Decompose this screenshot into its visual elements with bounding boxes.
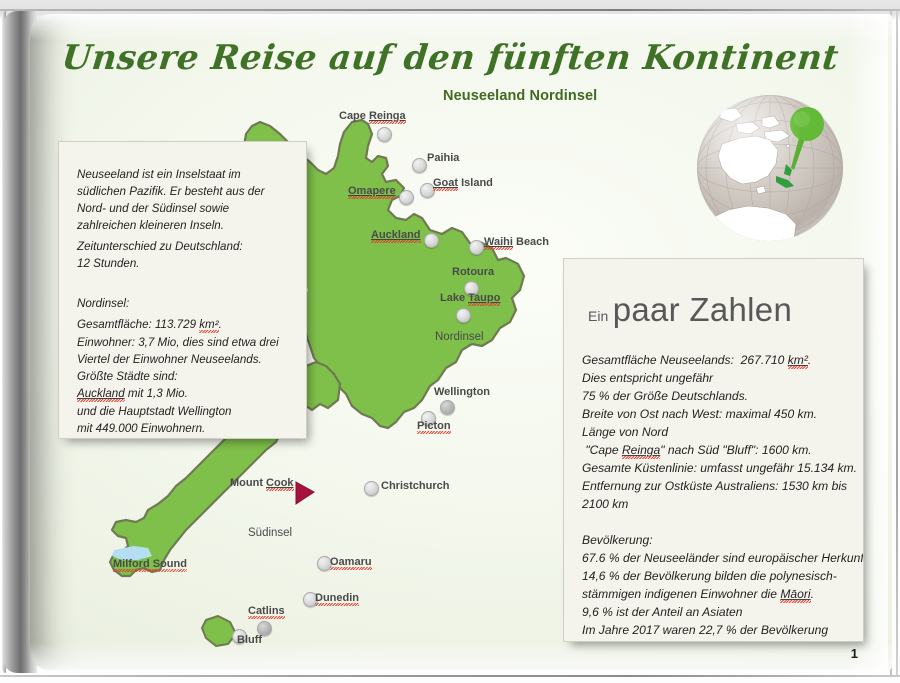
right-line-1: Dies entspricht ungefähr: [582, 369, 855, 387]
spellcheck-reinga-right: Reinga: [622, 443, 660, 457]
right-line-2: 75 % der Größe Deutschlands.: [582, 387, 855, 405]
right-line-7: Entfernung zur Ostküste Australiens: 153…: [582, 477, 855, 495]
left-line-4: Zeitunterschied zu Deutschland:: [77, 238, 296, 255]
spellcheck-waihi: Waihi: [484, 236, 513, 248]
page-right-edge-2: [896, 11, 898, 675]
city-label-dunedin: Dunedin: [315, 592, 359, 604]
city-label-cape-reinga: Cape Reinga: [339, 110, 406, 122]
info-box-right-content: Ein paar Zahlen Gesamtfläche Neuseelands…: [564, 259, 863, 641]
heading-small: Ein: [588, 308, 608, 324]
spellcheck-omapere: Omapere: [348, 185, 396, 197]
left-line-3: zahlreichen kleineren Inseln.: [77, 217, 296, 234]
city-dot-auckland[interactable]: [424, 233, 439, 248]
left-line-9: Viertel der Einwohner Neuseelands.: [77, 351, 296, 368]
city-label-catlins: Catlins: [248, 605, 285, 617]
right-line-5: "Cape Reinga" nach Süd "Bluff": 1600 km.: [582, 441, 855, 459]
city-label-oamaru: Oamaru: [330, 556, 372, 568]
spellcheck-cook: Cook: [266, 477, 294, 489]
left-line-11: Auckland mit 1,3 Mio.: [77, 385, 296, 402]
globe-svg: [690, 88, 860, 258]
page-title: Unsere Reise auf den fünften Kontinent: [60, 38, 684, 78]
left-line-1: südlichen Pazifik. Er besteht aus der: [77, 183, 296, 200]
left-line-8: Einwohner: 3,7 Mio, dies sind etwa drei: [77, 334, 296, 351]
city-dot-wellington[interactable]: [440, 400, 455, 415]
city-label-paihia: Paihia: [427, 152, 459, 164]
city-label-wellington: Wellington: [434, 386, 490, 398]
mount-cook-marker: [296, 482, 314, 504]
city-label-christchurch: Christchurch: [381, 480, 449, 492]
spellcheck-maori: Māori: [780, 587, 810, 601]
right-line-10: 67.6 % der Neuseeländer sind europäische…: [582, 549, 855, 567]
spellcheck-oamaru: Oamaru: [330, 556, 372, 568]
right-line-8: 2100 km: [582, 495, 855, 513]
city-label-waihi-beach: Waihi Beach: [484, 236, 549, 248]
city-label-omapere: Omapere: [348, 185, 396, 197]
left-line-12: und die Hauptstadt Wellington: [77, 403, 296, 420]
info-box-left-content: Neuseeland ist ein Inselstaat im südlich…: [59, 142, 306, 438]
city-label-auckland: Auckland: [371, 229, 421, 241]
city-label-rotoura: Rotoura: [452, 266, 494, 278]
right-line-0: Gesamtfläche Neuseelands: 267.710 km².: [582, 351, 855, 369]
city-label-mount-cook: Mount Cook: [230, 477, 294, 489]
region-label-nordinsel: Nordinsel: [435, 331, 484, 343]
info-box-right: Ein paar Zahlen Gesamtfläche Neuseelands…: [563, 258, 864, 642]
city-label-bluff: Bluff: [237, 634, 262, 646]
left-line-13: mit 449.000 Einwohnern.: [77, 420, 296, 437]
left-line-7: Gesamtfläche: 113.729 km².: [77, 316, 296, 333]
spellcheck-goat: Goat: [433, 177, 458, 189]
right-line-11: 14,6 % der Bevölkerung bilden die polyne…: [582, 567, 855, 585]
city-dot-cape-reinga[interactable]: [377, 127, 392, 142]
spellcheck-auckland-box: Auckland: [77, 387, 125, 400]
city-label-lake-taupo: Lake Taupo: [440, 292, 500, 304]
city-label-picton: Picton: [417, 420, 451, 432]
page-top-edge: [0, 9, 900, 11]
right-line-13: 9,6 % ist der Anteil an Asiaten: [582, 603, 855, 621]
stewart-island-shape: [202, 616, 236, 646]
spellcheck-milford: Milford Sound: [113, 558, 187, 570]
city-dot-paihia[interactable]: [412, 158, 427, 173]
city-dot-lake-taupo[interactable]: [456, 308, 471, 323]
left-line-10: Größte Städte sind:: [77, 368, 296, 385]
city-dot-omapere[interactable]: [399, 190, 414, 205]
right-line-9: Bevölkerung:: [582, 531, 855, 549]
city-label-goat-island: Goat Island: [433, 177, 493, 189]
right-line-4: Länge von Nord: [582, 423, 855, 441]
city-label-milford-sound: Milford Sound: [113, 558, 187, 570]
spellcheck-km2-right: km²: [788, 353, 808, 367]
spellcheck-dunedin: Dunedin: [315, 592, 359, 604]
right-line-12: stämmigen indigenen Einwohner die Māori.: [582, 585, 855, 603]
right-line-6: Gesamte Küstenlinie: umfasst ungefähr 15…: [582, 459, 855, 477]
page-bottom-edge: [0, 675, 900, 677]
spellcheck-catlins: Catlins: [248, 605, 285, 617]
presentation-page: Unsere Reise auf den fünften Kontinent N…: [0, 0, 900, 683]
right-line-3: Breite von Ost nach West: maximal 450 km…: [582, 405, 855, 423]
right-box-heading: Ein paar Zahlen: [588, 291, 792, 329]
left-line-2: Nord- und der Südinsel sowie: [77, 200, 296, 217]
right-line-15: Migranten.: [582, 639, 855, 641]
globe-inset: [690, 88, 860, 258]
heading-big: paar Zahlen: [613, 291, 792, 328]
spellcheck-auckland-map: Auckland: [371, 229, 421, 241]
spellcheck-km2-left: km²: [199, 318, 218, 331]
spellcheck-taupo: Taupo: [468, 292, 500, 304]
spellcheck-reinga: Reinga: [369, 110, 406, 122]
spellcheck-picton: Picton: [417, 420, 451, 432]
right-line-14: Im Jahre 2017 waren 22,7 % der Bevölkeru…: [582, 621, 855, 639]
info-box-left: Neuseeland ist ein Inselstaat im südlich…: [58, 141, 307, 439]
left-line-0: Neuseeland ist ein Inselstaat im: [77, 166, 296, 183]
city-dot-waihi-beach[interactable]: [469, 240, 484, 255]
city-dot-christchurch[interactable]: [364, 481, 379, 496]
region-label-suedinsel: Südinsel: [248, 527, 292, 539]
page-number: 1: [851, 646, 858, 661]
globe-gloss: [697, 95, 843, 241]
left-line-6: Nordinsel:: [77, 295, 296, 312]
left-line-5: 12 Stunden.: [77, 255, 296, 272]
